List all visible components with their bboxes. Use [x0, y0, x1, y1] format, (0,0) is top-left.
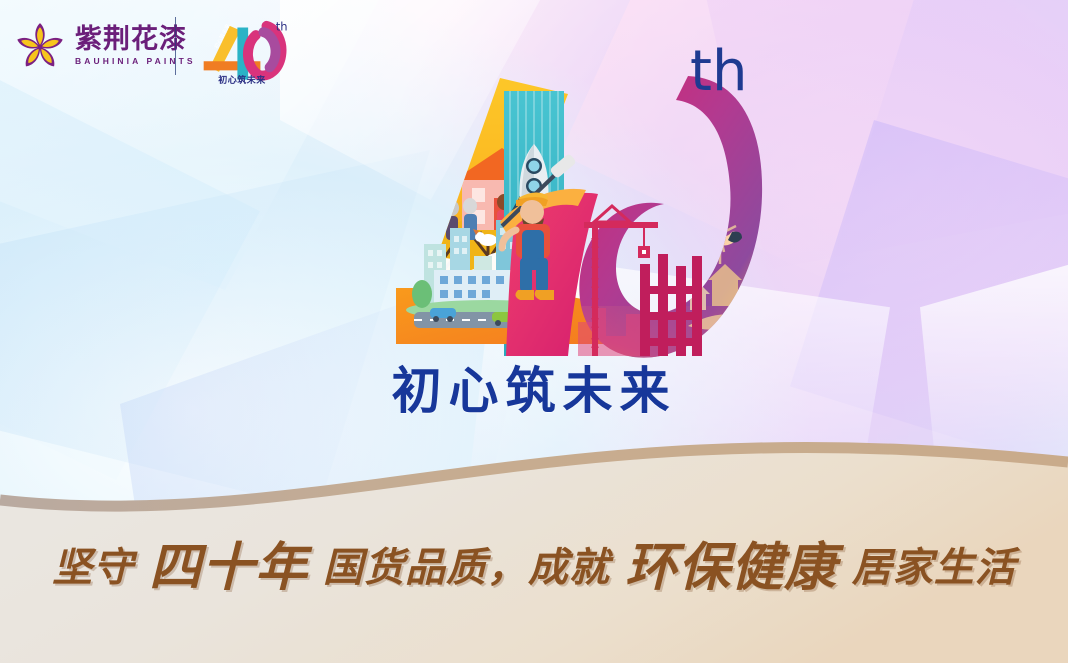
banner-part-3: 国货品质， — [308, 548, 528, 588]
brand-name-en: BAUHINIA PAINTS — [75, 57, 196, 66]
hero-crane — [578, 206, 702, 356]
brand-name-cn: 紫荆花漆 — [75, 26, 196, 53]
banner-part-4: 成就 — [528, 548, 625, 588]
hero-40-artwork — [268, 56, 788, 376]
svg-text:th: th — [276, 20, 288, 34]
ordinal-suffix: th — [690, 44, 747, 100]
vertical-divider — [175, 17, 176, 75]
brand-logo[interactable]: 紫荆花漆 BAUHINIA PAINTS — [14, 20, 196, 72]
banner-part-5: 环保健康 — [625, 542, 837, 594]
banner-part-1: 坚守 — [52, 548, 149, 588]
banner-part-2: 四十年 — [149, 542, 308, 594]
bottom-banner: 坚守 四十年 国货品质， 成就 环保健康 居家生活 — [0, 523, 1068, 613]
main-slogan: 初心筑未来 — [0, 366, 1068, 416]
poster-root: 紫荆花漆 BAUHINIA PAINTS th 初心筑未来 初心筑未来 — [0, 0, 1068, 663]
bauhinia-flower-icon — [14, 20, 66, 72]
banner-part-6: 居家生活 — [837, 548, 1016, 588]
